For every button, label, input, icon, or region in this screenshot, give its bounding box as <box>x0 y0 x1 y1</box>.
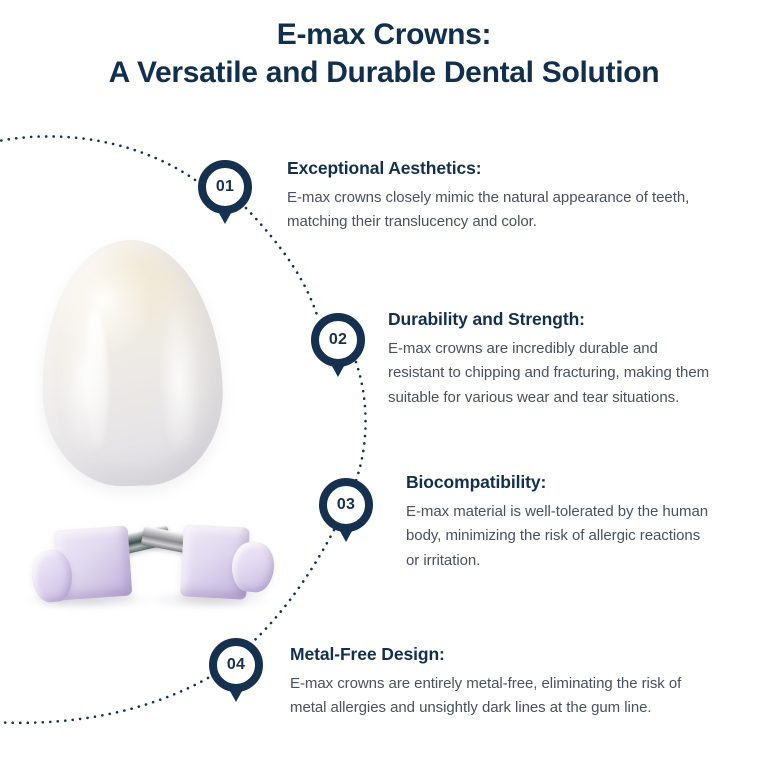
pin-circle-04: 04 <box>209 638 263 692</box>
pin-number-03: 03 <box>337 497 355 513</box>
pin-number-01: 01 <box>216 179 234 195</box>
pin-circle-02: 02 <box>311 313 365 367</box>
feature-item-02: Durability and Strength: E-max crowns ar… <box>388 309 718 410</box>
pin-number-04: 04 <box>227 657 245 673</box>
page-title: E-max Crowns: A Versatile and Durable De… <box>0 16 768 92</box>
feature-heading-02: Durability and Strength: <box>388 309 718 331</box>
feature-item-04: Metal-Free Design: E-max crowns are enti… <box>290 644 720 721</box>
feature-body-02: E-max crowns are incredibly durable and … <box>388 337 718 410</box>
feature-item-03: Biocompatibility: E-max material is well… <box>406 472 716 573</box>
title-line-1: E-max Crowns: <box>0 16 768 54</box>
feature-heading-04: Metal-Free Design: <box>290 644 720 666</box>
dental-crown-photo <box>39 238 225 489</box>
feature-body-03: E-max material is well-tolerated by the … <box>406 500 716 573</box>
pin-marker-02[interactable]: 02 <box>311 313 365 367</box>
title-line-2: A Versatile and Durable Dental Solution <box>0 54 768 92</box>
pin-marker-03[interactable]: 03 <box>319 478 373 532</box>
connector-segment-start-to-01 <box>0 136 198 182</box>
pin-circle-03: 03 <box>319 478 373 532</box>
infographic-canvas: E-max Crowns: A Versatile and Durable De… <box>0 0 768 768</box>
pin-circle-01: 01 <box>198 160 252 214</box>
connector-segment-04-to-end <box>0 678 208 723</box>
pin-marker-04[interactable]: 04 <box>209 638 263 692</box>
connector-segment-03-to-04 <box>244 530 334 650</box>
feature-body-04: E-max crowns are entirely metal-free, el… <box>290 672 720 721</box>
feature-body-01: E-max crowns closely mimic the natural a… <box>287 186 707 235</box>
connector-segment-02-to-03 <box>354 362 366 486</box>
ceramic-blocks-photo <box>14 512 274 616</box>
feature-heading-01: Exceptional Aesthetics: <box>287 158 707 180</box>
feature-heading-03: Biocompatibility: <box>406 472 716 494</box>
pin-number-02: 02 <box>329 332 347 348</box>
feature-item-01: Exceptional Aesthetics: E-max crowns clo… <box>287 158 707 235</box>
pin-marker-01[interactable]: 01 <box>198 160 252 214</box>
